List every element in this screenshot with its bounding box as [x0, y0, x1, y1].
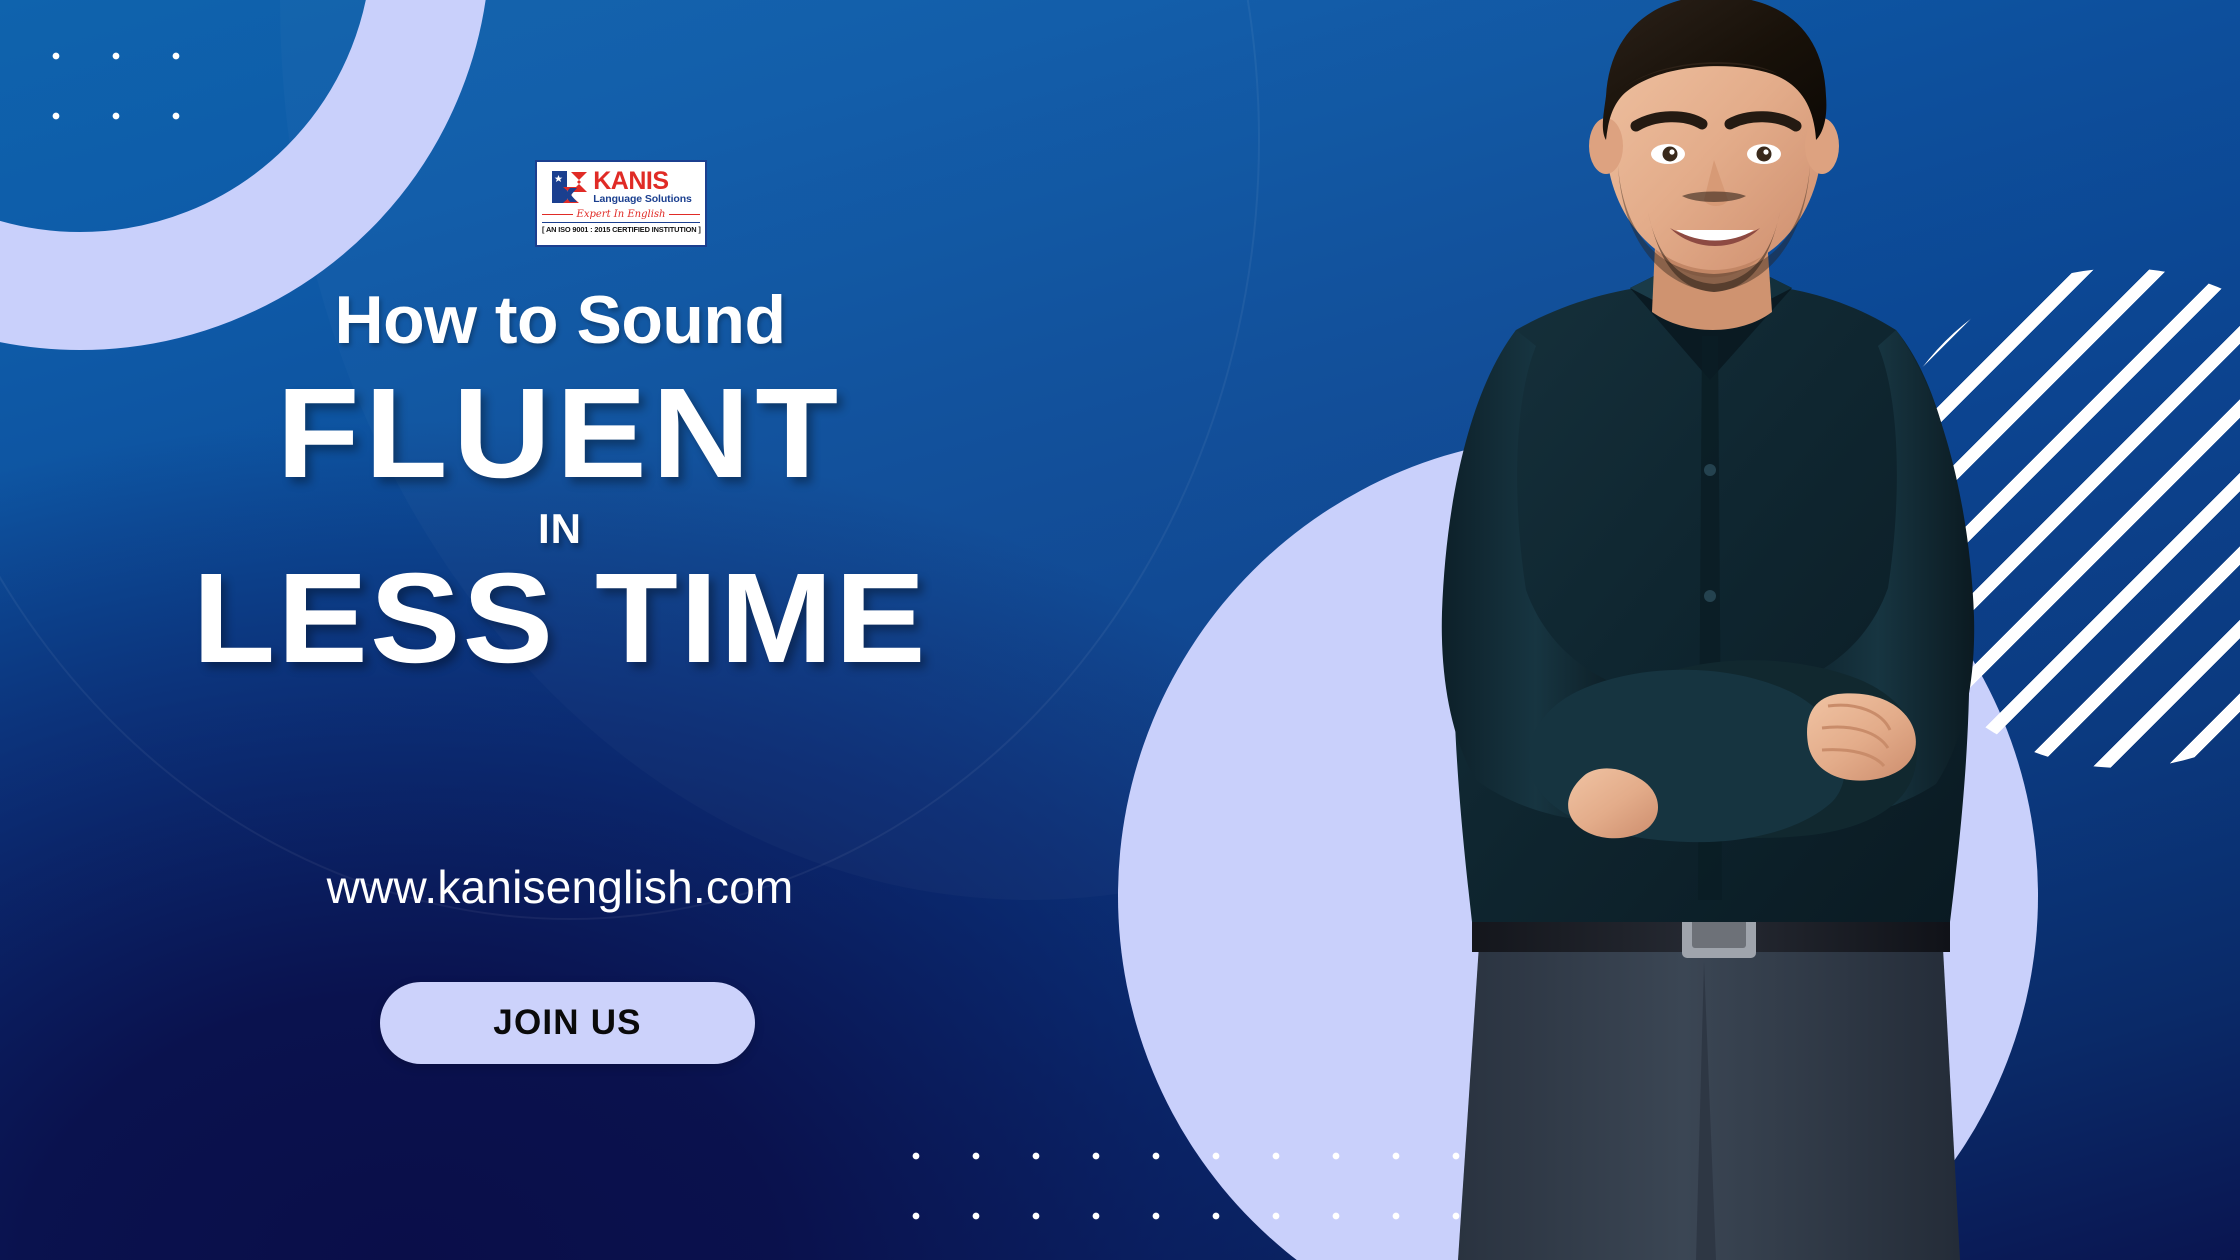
- logo-top-row: KANIS Language Solutions: [550, 166, 692, 208]
- presenter-photo: [1330, 0, 2090, 1260]
- headline-block: How to Sound FLUENT IN LESS TIME: [0, 286, 1120, 675]
- logo-name: KANIS: [593, 170, 668, 193]
- join-us-button[interactable]: JOIN US: [380, 982, 755, 1064]
- website-url[interactable]: www.kanisenglish.com: [0, 860, 1120, 914]
- headline-line-two: LESS TIME: [0, 563, 1154, 676]
- headline-kicker: How to Sound: [0, 286, 1120, 354]
- logo-script-tagline: Expert In English: [577, 209, 666, 220]
- headline-connector: IN: [0, 505, 1120, 553]
- promo-banner: KANIS Language Solutions Expert In Engli…: [0, 0, 2240, 1260]
- tagline-rule-right: [669, 214, 700, 216]
- logo-tagline-row: Expert In English: [542, 209, 700, 220]
- logo-wordmark: KANIS Language Solutions: [593, 170, 692, 205]
- brand-logo: KANIS Language Solutions Expert In Engli…: [535, 160, 707, 247]
- logo-emblem-icon: [550, 168, 590, 206]
- headline-line-one: FLUENT: [0, 378, 1154, 491]
- tagline-rule-left: [542, 214, 573, 216]
- content-column: KANIS Language Solutions Expert In Engli…: [0, 0, 1120, 1260]
- logo-subtitle: Language Solutions: [593, 194, 692, 205]
- logo-certification: [ AN ISO 9001 : 2015 CERTIFIED INSTITUTI…: [542, 222, 700, 234]
